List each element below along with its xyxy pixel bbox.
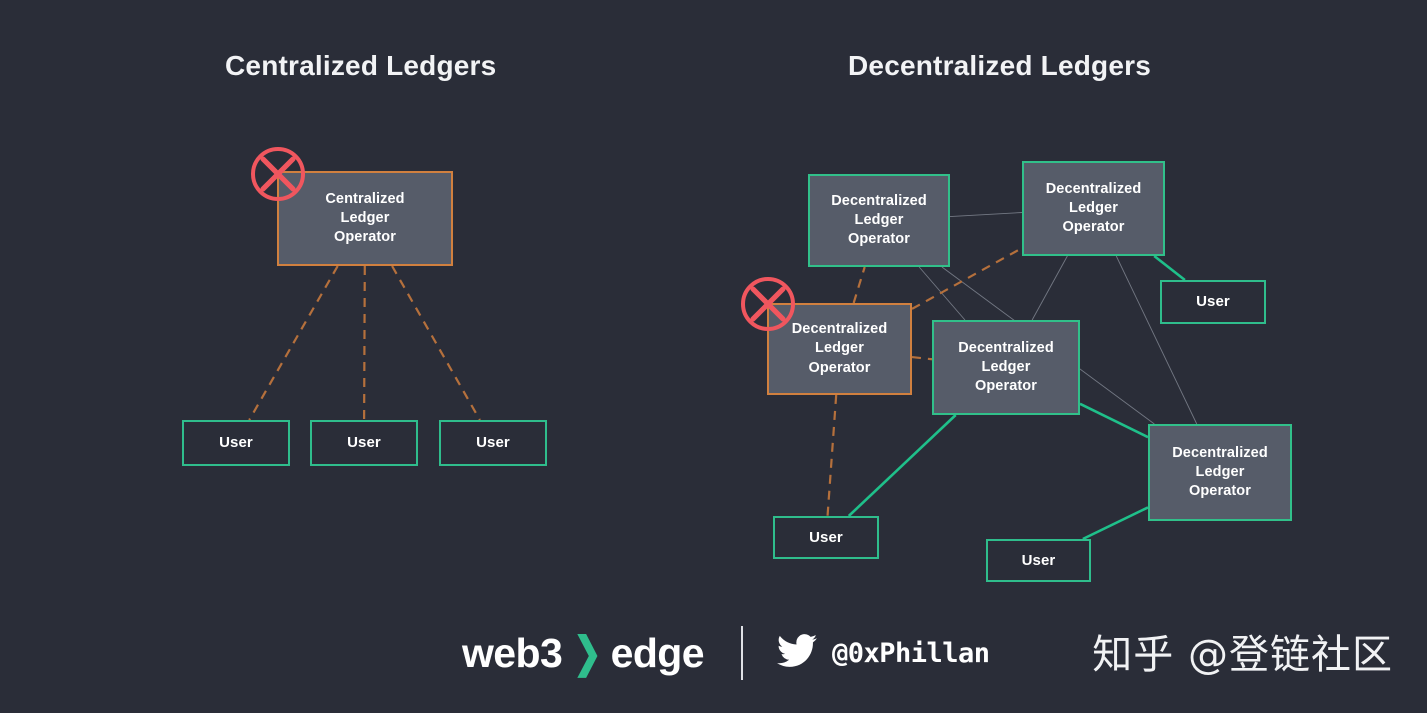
brand-divider <box>741 626 743 680</box>
cross-out-marker-icon <box>251 147 305 201</box>
connection-line <box>1032 256 1067 320</box>
chevron-right-icon: ❯ <box>573 632 602 675</box>
connection-line <box>364 266 365 420</box>
node-user[interactable]: User <box>439 420 547 466</box>
watermark-zhihu: 知乎 @登链社区 <box>1092 622 1393 680</box>
node-user[interactable]: User <box>1160 280 1266 324</box>
node-user[interactable]: User <box>986 539 1091 582</box>
connection-line <box>1080 404 1148 437</box>
node-label: Decentralized Ledger Operator <box>831 192 927 250</box>
footer-bar: web3 ❯ edge @0xPhillan 知乎 @登链社区 <box>0 608 1427 700</box>
connection-line <box>828 395 837 516</box>
brand-text-web3: web3 <box>462 630 562 677</box>
connection-line <box>1154 256 1185 280</box>
connection-lines-layer <box>0 0 1427 713</box>
node-label: User <box>809 528 843 548</box>
node-operator[interactable]: Decentralized Ledger Operator <box>1148 424 1292 521</box>
connection-line <box>1083 507 1148 539</box>
node-operator[interactable]: Decentralized Ledger Operator <box>932 320 1080 415</box>
node-label: Decentralized Ledger Operator <box>1172 444 1268 502</box>
node-label: User <box>219 433 253 453</box>
connection-line <box>849 415 956 516</box>
node-operator[interactable]: Decentralized Ledger Operator <box>1022 161 1165 256</box>
connection-line <box>854 267 865 303</box>
node-label: User <box>1196 292 1230 312</box>
node-user[interactable]: User <box>773 516 879 559</box>
node-label: Centralized Ledger Operator <box>325 190 404 248</box>
twitter-bird-icon <box>777 634 817 673</box>
node-label: User <box>476 433 510 453</box>
node-user[interactable]: User <box>182 420 290 466</box>
connection-line <box>912 357 932 359</box>
twitter-handle-group[interactable]: @0xPhillan <box>777 634 990 673</box>
node-operator[interactable]: Centralized Ledger Operator <box>277 171 453 266</box>
panel-title-centralized: Centralized Ledgers <box>225 50 496 82</box>
brand-logo: web3 ❯ edge @0xPhillan <box>462 622 990 684</box>
cross-out-marker-icon <box>741 277 795 331</box>
node-user[interactable]: User <box>310 420 418 466</box>
node-label: Decentralized Ledger Operator <box>1046 180 1142 238</box>
node-label: Decentralized Ledger Operator <box>792 320 888 378</box>
diagram-stage: Centralized Ledgers Decentralized Ledger… <box>0 0 1427 713</box>
connection-line <box>919 267 965 320</box>
connection-line <box>950 213 1022 217</box>
connection-line <box>249 266 337 420</box>
twitter-handle-text: @0xPhillan <box>832 638 990 669</box>
node-label: User <box>347 433 381 453</box>
node-label: User <box>1022 551 1056 571</box>
node-label: Decentralized Ledger Operator <box>958 339 1054 397</box>
node-operator[interactable]: Decentralized Ledger Operator <box>808 174 950 267</box>
panel-title-decentralized: Decentralized Ledgers <box>848 50 1151 82</box>
connection-line <box>1080 404 1148 437</box>
brand-text-edge: edge <box>611 630 704 677</box>
connection-line <box>392 266 480 420</box>
